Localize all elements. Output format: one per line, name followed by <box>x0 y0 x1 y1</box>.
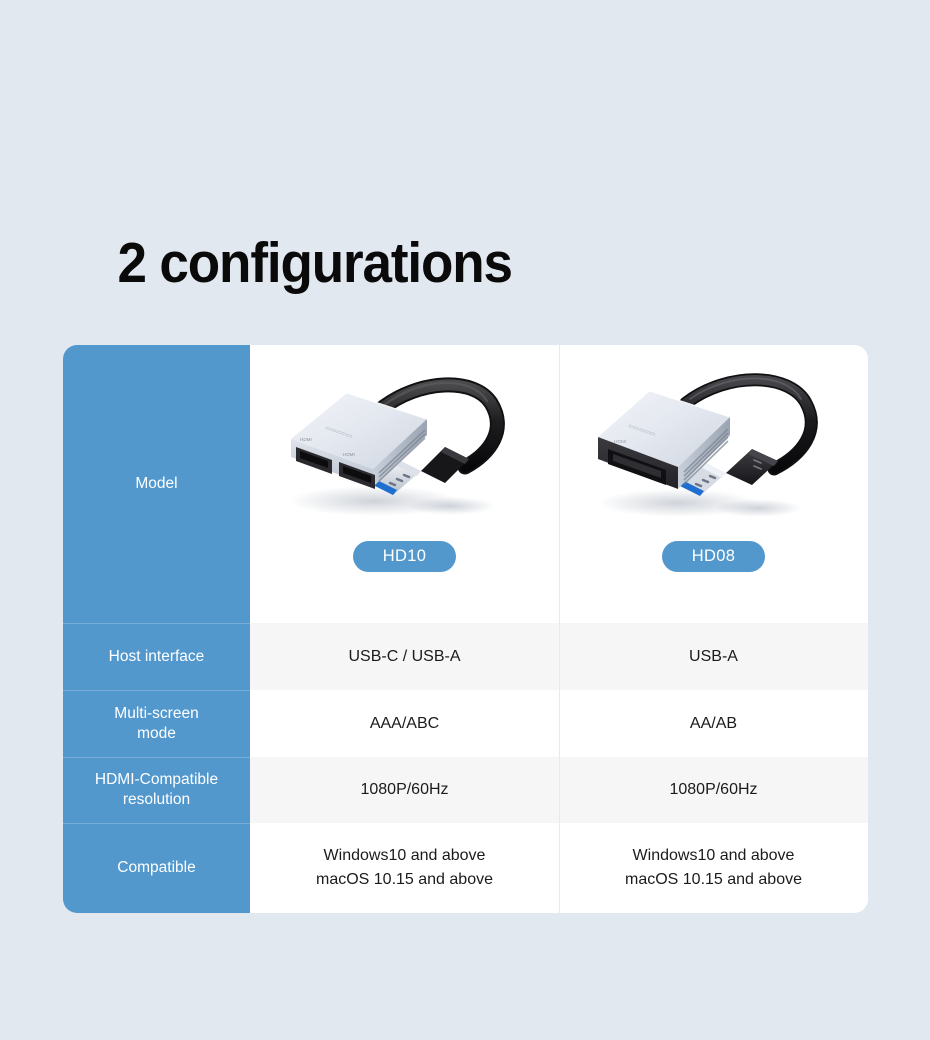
product-badge-hd10: HD10 <box>353 541 456 572</box>
svg-text:HDMI: HDMI <box>343 452 355 457</box>
row-label-host-interface: Host interface <box>63 623 250 690</box>
svg-text:HDMI: HDMI <box>614 439 626 445</box>
table-row-host-interface: USB-C / USB-A USB-A <box>250 623 868 690</box>
table-row-multi-screen-mode: AAA/ABC AA/AB <box>250 690 868 757</box>
cell-hd08-resolution: 1080P/60Hz <box>559 757 868 823</box>
cell-hd10-resolution: 1080P/60Hz <box>250 757 559 823</box>
headline-line-1: 2 configurations <box>117 231 511 295</box>
product-badge-hd08: HD08 <box>662 541 765 572</box>
product-data-columns: HDMI HDMI ▭▭▭▭▭ HD10 <box>250 345 868 913</box>
product-cell-hd08: HDMI ▭▭▭▭▭ HD08 <box>559 345 868 623</box>
table-row-model: HDMI HDMI ▭▭▭▭▭ HD10 <box>250 345 868 623</box>
row-label-compatible: Compatible <box>63 823 250 913</box>
product-comparison-page: 2 configurations Satisfy different needs… <box>0 0 930 1040</box>
table-row-compatible: Windows10 and above macOS 10.15 and abov… <box>250 823 868 913</box>
comparison-table-card: Model Host interface Multi-screen mode H… <box>63 345 868 913</box>
table-row-hdmi-resolution: 1080P/60Hz 1080P/60Hz <box>250 757 868 823</box>
product-image-hd08: HDMI ▭▭▭▭▭ <box>578 363 850 535</box>
cell-hd10-compatible: Windows10 and above macOS 10.15 and abov… <box>250 823 559 913</box>
cell-hd08-multi-screen-mode: AA/AB <box>559 690 868 757</box>
cell-hd10-host-interface: USB-C / USB-A <box>250 623 559 690</box>
row-label-column: Model Host interface Multi-screen mode H… <box>63 345 250 913</box>
row-label-model: Model <box>63 345 250 623</box>
product-cell-hd10: HDMI HDMI ▭▭▭▭▭ HD10 <box>250 345 559 623</box>
svg-text:HDMI: HDMI <box>300 437 312 442</box>
cell-hd08-host-interface: USB-A <box>559 623 868 690</box>
row-label-multi-screen-mode: Multi-screen mode <box>63 690 250 757</box>
product-image-hd10: HDMI HDMI ▭▭▭▭▭ <box>269 363 541 535</box>
row-label-hdmi-resolution: HDMI-Compatible resolution <box>63 757 250 823</box>
cell-hd08-compatible: Windows10 and above macOS 10.15 and abov… <box>559 823 868 913</box>
cell-hd10-multi-screen-mode: AAA/ABC <box>250 690 559 757</box>
